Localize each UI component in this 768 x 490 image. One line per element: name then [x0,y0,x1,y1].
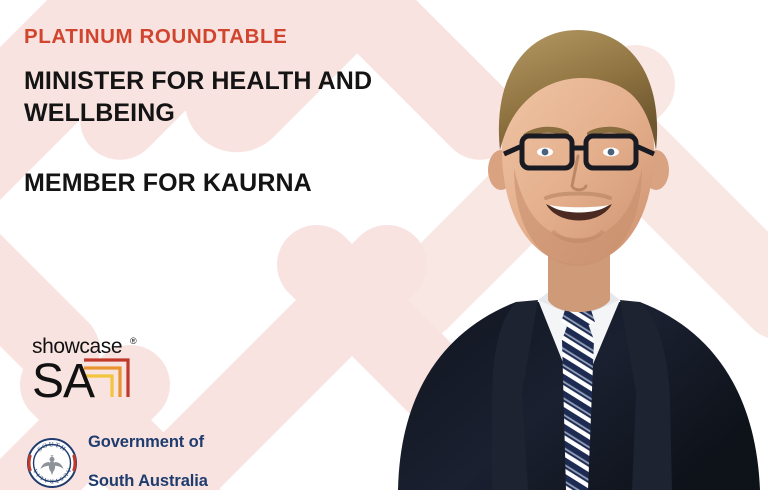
government-logo-line1: Government of [88,433,208,452]
south-australia-crest-icon: SOUTH AUSTRALIA [26,437,78,489]
registered-mark-icon: ® [130,336,137,346]
government-logo-text: Government of South Australia [88,414,208,490]
eyebrow-label: PLATINUM ROUNDTABLE [24,26,444,49]
government-of-south-australia-logo: SOUTH AUSTRALIA Government of South Aust… [26,414,208,490]
page-subtitle: MEMBER FOR KAURNA [24,167,424,199]
page-title: MINISTER FOR HEALTH AND WELLBEING [24,65,424,129]
speaker-portrait-photo [388,0,768,490]
government-logo-line2: South Australia [88,472,208,490]
speaker-announcement-card: PLATINUM ROUNDTABLE MINISTER FOR HEALTH … [0,0,768,490]
headline-text-block: PLATINUM ROUNDTABLE MINISTER FOR HEALTH … [24,26,444,199]
showcase-acronym: SA [32,355,95,399]
showcase-sa-logo: showcase ® SA [32,333,160,399]
